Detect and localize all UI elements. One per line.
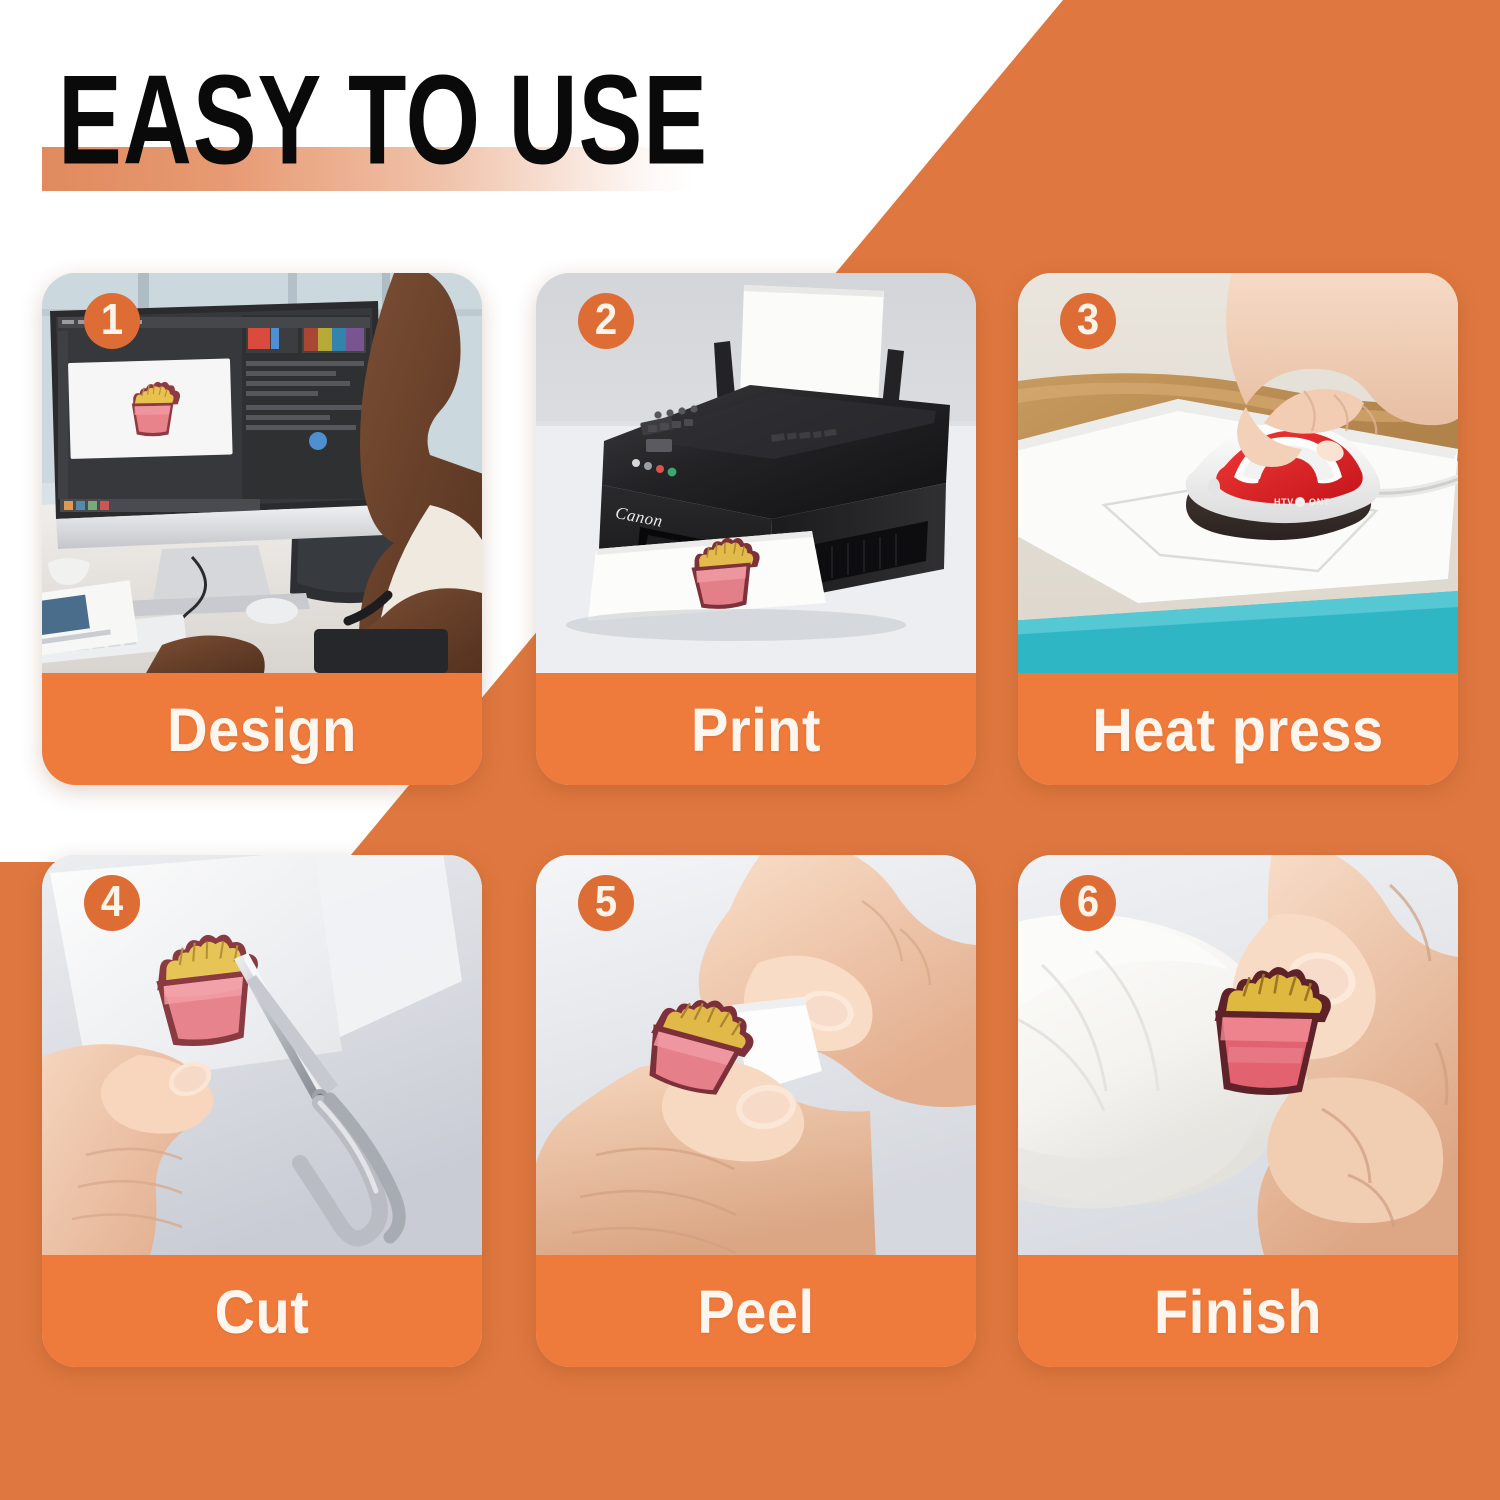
step-label-band-cut: Cut bbox=[42, 1255, 482, 1367]
step-number: 2 bbox=[595, 298, 617, 341]
svg-text:HTV: HTV bbox=[1274, 497, 1294, 507]
step-card-finish[interactable]: 6 Finish bbox=[1018, 855, 1458, 1367]
step-card-peel[interactable]: 5 Peel bbox=[536, 855, 976, 1367]
step-label-band-design: Design bbox=[42, 673, 482, 785]
step-number: 6 bbox=[1077, 880, 1099, 923]
step-card-cut[interactable]: 4 Cut bbox=[42, 855, 482, 1367]
step-label: Print bbox=[691, 693, 821, 765]
steps-grid: 1 Design bbox=[0, 0, 1500, 1500]
step-card-print[interactable]: Canon bbox=[536, 273, 976, 785]
step-number: 1 bbox=[101, 298, 123, 341]
step-badge-2: 2 bbox=[578, 293, 634, 349]
step-label-band-peel: Peel bbox=[536, 1255, 976, 1367]
step-label: Cut bbox=[215, 1275, 310, 1347]
step-number: 5 bbox=[595, 880, 617, 923]
step-badge-3: 3 bbox=[1060, 293, 1116, 349]
step-badge-6: 6 bbox=[1060, 875, 1116, 931]
step-number: 3 bbox=[1077, 298, 1099, 341]
step-label: Design bbox=[167, 693, 357, 765]
step-card-heat-press[interactable]: HTV ONT bbox=[1018, 273, 1458, 785]
step-label: Heat press bbox=[1092, 693, 1383, 765]
step-number: 4 bbox=[101, 880, 123, 923]
step-badge-1: 1 bbox=[84, 293, 140, 349]
step-card-design[interactable]: 1 Design bbox=[42, 273, 482, 785]
step-badge-4: 4 bbox=[84, 875, 140, 931]
step-label-band-print: Print bbox=[536, 673, 976, 785]
step-label: Finish bbox=[1154, 1275, 1322, 1347]
step-label-band-finish: Finish bbox=[1018, 1255, 1458, 1367]
step-badge-5: 5 bbox=[578, 875, 634, 931]
svg-text:ONT: ONT bbox=[1309, 497, 1330, 507]
step-label: Peel bbox=[697, 1275, 814, 1347]
step-label-band-heat-press: Heat press bbox=[1018, 673, 1458, 785]
